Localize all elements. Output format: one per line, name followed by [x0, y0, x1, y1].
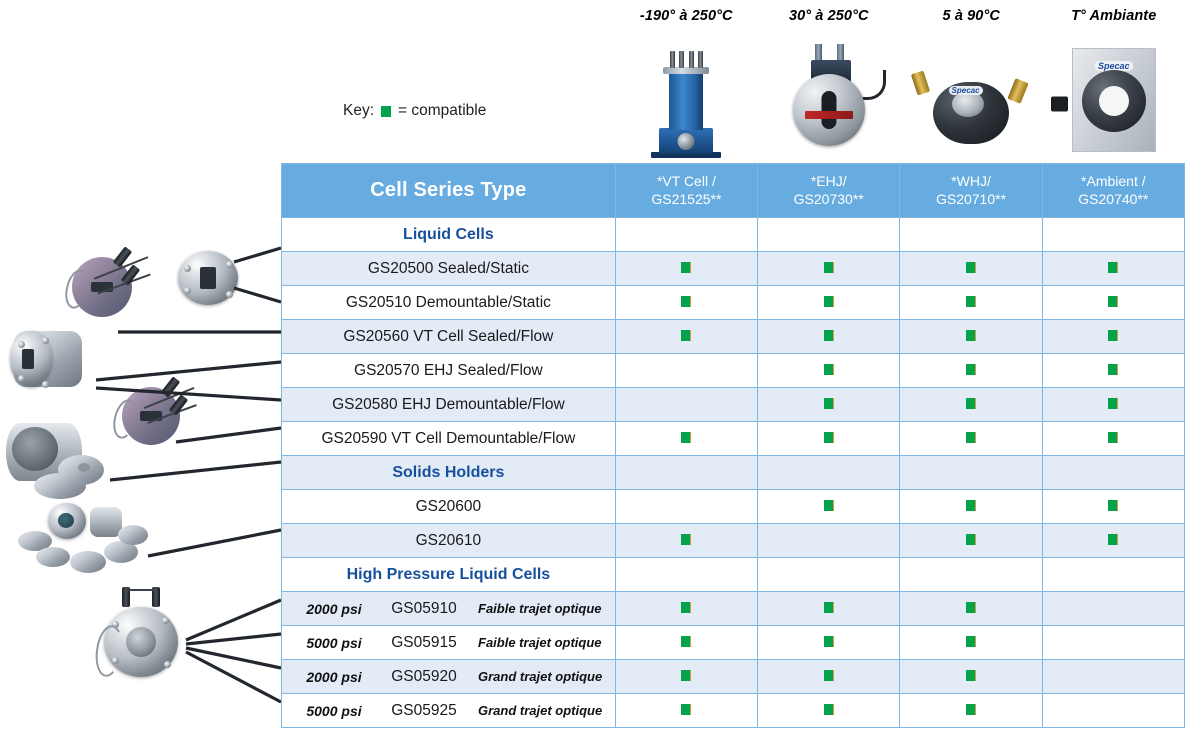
table-section-row: Liquid Cells: [282, 218, 1185, 252]
compat-cell-c1: [615, 558, 757, 592]
compat-cell-c1: [615, 320, 757, 354]
compat-cell-c4: [1042, 524, 1184, 558]
table-row: GS20610: [282, 524, 1185, 558]
compat-cell-c2: [758, 558, 900, 592]
row-label-high-pressure: 5000 psiGS05925Grand trajet optique: [282, 694, 616, 728]
green-square-icon: [966, 330, 976, 341]
table-row: 5000 psiGS05915Faible trajet optique: [282, 626, 1185, 660]
row-product-code: GS05915: [376, 634, 472, 652]
green-square-icon: [381, 106, 391, 117]
compat-cell-c4: [1042, 286, 1184, 320]
compat-cell-c2: [758, 524, 900, 558]
row-label-high-pressure: 5000 psiGS05915Faible trajet optique: [282, 626, 616, 660]
compat-cell-c1: [615, 490, 757, 524]
green-square-icon: [681, 534, 691, 545]
green-square-icon: [824, 602, 834, 613]
compat-cell-c3: [900, 490, 1042, 524]
compat-cell-c1: [615, 218, 757, 252]
row-product-code: GS05925: [376, 702, 472, 720]
temperature-label-row: -190° à 250°C 30° à 250°C 5 à 90°C T° Am…: [615, 8, 1185, 32]
specac-logo: Specac: [949, 86, 983, 95]
row-path-description: Grand trajet optique: [472, 669, 605, 684]
row-label: GS20510 Demountable/Static: [282, 286, 616, 320]
green-square-icon: [1108, 398, 1118, 409]
green-square-icon: [1108, 296, 1118, 307]
green-square-icon: [681, 262, 691, 273]
compat-cell-c3: [900, 252, 1042, 286]
header-ehj-line2: GS20730**: [758, 191, 899, 209]
whj-cell-photo: Specac: [900, 32, 1043, 160]
green-square-icon: [681, 636, 691, 647]
green-square-icon: [966, 704, 976, 715]
table-row: GS20600: [282, 490, 1185, 524]
legend-suffix: = compatible: [398, 102, 486, 120]
compat-cell-c4: [1042, 660, 1184, 694]
compat-cell-c4: [1042, 694, 1184, 728]
green-square-icon: [824, 704, 834, 715]
compat-cell-c3: [900, 660, 1042, 694]
table-row: GS20570 EHJ Sealed/Flow: [282, 354, 1185, 388]
vt-cell-photo: [615, 32, 758, 160]
table-row: 2000 psiGS05910Faible trajet optique: [282, 592, 1185, 626]
header-vt-line1: *VT Cell /: [616, 173, 757, 191]
table-row: 5000 psiGS05925Grand trajet optique: [282, 694, 1185, 728]
green-square-icon: [824, 500, 834, 511]
table-body: Liquid CellsGS20500 Sealed/StaticGS20510…: [282, 218, 1185, 728]
compat-cell-c3: [900, 422, 1042, 456]
header-cell-series-type: Cell Series Type: [282, 164, 616, 218]
compat-cell-c1: [615, 660, 757, 694]
compat-cell-c4: [1042, 252, 1184, 286]
table-row: GS20560 VT Cell Sealed/Flow: [282, 320, 1185, 354]
green-square-icon: [824, 398, 834, 409]
row-label-high-pressure: 2000 psiGS05920Grand trajet optique: [282, 660, 616, 694]
compat-cell-c4: [1042, 422, 1184, 456]
table-row: 2000 psiGS05920Grand trajet optique: [282, 660, 1185, 694]
compat-cell-c4: [1042, 354, 1184, 388]
compat-cell-c2: [758, 694, 900, 728]
compat-cell-c4: [1042, 626, 1184, 660]
row-label: GS20580 EHJ Demountable/Flow: [282, 388, 616, 422]
header-vt-line2: GS21525**: [616, 191, 757, 209]
table-row: GS20500 Sealed/Static: [282, 252, 1185, 286]
green-square-icon: [1108, 534, 1118, 545]
compat-cell-c1: [615, 626, 757, 660]
header-ambient-line2: GS20740**: [1043, 191, 1184, 209]
header-whj-line1: *WHJ/: [900, 173, 1041, 191]
compat-cell-c3: [900, 388, 1042, 422]
compat-cell-c1: [615, 524, 757, 558]
row-label: GS20500 Sealed/Static: [282, 252, 616, 286]
temperature-label-ehj: 30° à 250°C: [758, 8, 901, 32]
compat-cell-c3: [900, 524, 1042, 558]
green-square-icon: [966, 432, 976, 443]
table-section-row: Solids Holders: [282, 456, 1185, 490]
row-pressure-rating: 5000 psi: [292, 703, 376, 719]
compat-cell-c1: [615, 456, 757, 490]
row-pressure-rating: 2000 psi: [292, 601, 376, 617]
green-square-icon: [1108, 432, 1118, 443]
compat-cell-c1: [615, 422, 757, 456]
green-square-icon: [824, 296, 834, 307]
green-square-icon: [824, 432, 834, 443]
table-row: GS20510 Demountable/Static: [282, 286, 1185, 320]
compat-cell-c3: [900, 354, 1042, 388]
compat-cell-c4: [1042, 456, 1184, 490]
compat-cell-c1: [615, 286, 757, 320]
green-square-icon: [1108, 500, 1118, 511]
header-column-vt-cell: *VT Cell / GS21525**: [615, 164, 757, 218]
compat-cell-c3: [900, 694, 1042, 728]
compat-cell-c1: [615, 354, 757, 388]
header-ambient-line1: *Ambient /: [1043, 173, 1184, 191]
green-square-icon: [681, 330, 691, 341]
compat-cell-c2: [758, 388, 900, 422]
table-row: GS20580 EHJ Demountable/Flow: [282, 388, 1185, 422]
header-whj-line2: GS20710**: [900, 191, 1041, 209]
compat-cell-c4: [1042, 490, 1184, 524]
green-square-icon: [824, 636, 834, 647]
compat-cell-c2: [758, 218, 900, 252]
green-square-icon: [966, 398, 976, 409]
row-label-high-pressure: 2000 psiGS05910Faible trajet optique: [282, 592, 616, 626]
green-square-icon: [824, 330, 834, 341]
compat-cell-c4: [1042, 592, 1184, 626]
green-square-icon: [681, 602, 691, 613]
green-square-icon: [966, 534, 976, 545]
green-square-icon: [1108, 330, 1118, 341]
table-section-row: High Pressure Liquid Cells: [282, 558, 1185, 592]
compat-cell-c2: [758, 252, 900, 286]
green-square-icon: [1108, 262, 1118, 273]
temperature-label-ambient: T° Ambiante: [1043, 8, 1185, 32]
compat-cell-c3: [900, 456, 1042, 490]
compat-cell-c2: [758, 422, 900, 456]
row-label: GS20600: [282, 490, 616, 524]
green-square-icon: [824, 364, 834, 375]
row-path-description: Grand trajet optique: [472, 703, 605, 718]
legend-prefix: Key:: [343, 102, 374, 120]
green-square-icon: [966, 262, 976, 273]
temperature-label-whj: 5 à 90°C: [900, 8, 1043, 32]
compat-cell-c4: [1042, 218, 1184, 252]
compat-cell-c2: [758, 592, 900, 626]
compat-cell-c2: [758, 320, 900, 354]
compat-cell-c3: [900, 626, 1042, 660]
compat-cell-c3: [900, 558, 1042, 592]
compat-cell-c2: [758, 354, 900, 388]
product-montage: [0, 235, 285, 715]
row-path-description: Faible trajet optique: [472, 635, 605, 650]
header-ehj-line1: *EHJ/: [758, 173, 899, 191]
compat-cell-c1: [615, 388, 757, 422]
compatibility-table: Cell Series Type *VT Cell / GS21525** *E…: [281, 163, 1185, 728]
table-header-row: Cell Series Type *VT Cell / GS21525** *E…: [282, 164, 1185, 218]
temperature-label-vt: -190° à 250°C: [615, 8, 758, 32]
compat-cell-c1: [615, 694, 757, 728]
compat-cell-c1: [615, 592, 757, 626]
header-column-whj: *WHJ/ GS20710**: [900, 164, 1042, 218]
green-square-icon: [966, 602, 976, 613]
row-label: GS20560 VT Cell Sealed/Flow: [282, 320, 616, 354]
green-square-icon: [681, 432, 691, 443]
header-column-ambient: *Ambient / GS20740**: [1042, 164, 1184, 218]
green-square-icon: [1108, 364, 1118, 375]
green-square-icon: [681, 296, 691, 307]
row-path-description: Faible trajet optique: [472, 601, 605, 616]
legend: Key: = compatible: [343, 102, 486, 120]
compat-cell-c3: [900, 592, 1042, 626]
compat-cell-c2: [758, 286, 900, 320]
table-row: GS20590 VT Cell Demountable/Flow: [282, 422, 1185, 456]
compat-cell-c3: [900, 320, 1042, 354]
green-square-icon: [681, 704, 691, 715]
compat-cell-c4: [1042, 388, 1184, 422]
compat-cell-c4: [1042, 558, 1184, 592]
ambient-cell-photo: Specac: [1043, 32, 1185, 160]
compat-cell-c3: [900, 218, 1042, 252]
header-column-ehj: *EHJ/ GS20730**: [758, 164, 900, 218]
row-product-code: GS05910: [376, 600, 472, 618]
section-label: High Pressure Liquid Cells: [282, 558, 616, 592]
green-square-icon: [966, 636, 976, 647]
compat-cell-c3: [900, 286, 1042, 320]
compat-cell-c2: [758, 490, 900, 524]
compat-cell-c4: [1042, 320, 1184, 354]
green-square-icon: [966, 670, 976, 681]
compat-cell-c2: [758, 660, 900, 694]
compat-cell-c2: [758, 456, 900, 490]
header-product-photo-row: Specac Specac: [615, 32, 1185, 160]
section-label: Liquid Cells: [282, 218, 616, 252]
green-square-icon: [824, 670, 834, 681]
green-square-icon: [681, 670, 691, 681]
green-square-icon: [824, 262, 834, 273]
row-product-code: GS05920: [376, 668, 472, 686]
row-pressure-rating: 5000 psi: [292, 635, 376, 651]
green-square-icon: [966, 364, 976, 375]
green-square-icon: [966, 500, 976, 511]
green-square-icon: [966, 296, 976, 307]
compat-cell-c1: [615, 252, 757, 286]
row-label: GS20590 VT Cell Demountable/Flow: [282, 422, 616, 456]
compat-cell-c2: [758, 626, 900, 660]
row-pressure-rating: 2000 psi: [292, 669, 376, 685]
row-label: GS20610: [282, 524, 616, 558]
row-label: GS20570 EHJ Sealed/Flow: [282, 354, 616, 388]
ehj-cell-photo: [758, 32, 901, 160]
section-label: Solids Holders: [282, 456, 616, 490]
